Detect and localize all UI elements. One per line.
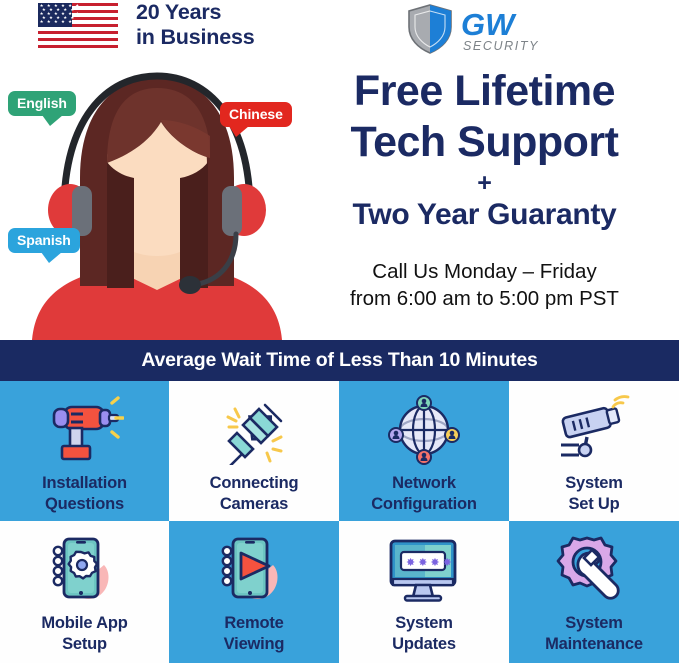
language-badge-spanish: Spanish	[8, 228, 80, 253]
language-badge-spanish-label: Spanish	[17, 232, 71, 248]
gw-security-logo: GW SECURITY	[404, 3, 542, 55]
shield-icon	[409, 5, 451, 53]
topic-tile-label: Network Configuration	[371, 473, 477, 515]
topic-tile-label: System Maintenance	[545, 613, 643, 655]
topic-tile-mobile-app-setup[interactable]: Mobile App Setup	[0, 521, 169, 663]
topic-tile-system-set-up[interactable]: System Set Up	[509, 381, 679, 521]
topic-tile-label: System Set Up	[565, 473, 623, 515]
cctv-camera-icon	[552, 393, 636, 467]
topic-tile-system-updates[interactable]: ✸✸✸✸ System Updates	[339, 521, 509, 663]
gw-logo-mark: GW	[461, 7, 517, 42]
topic-tile-system-maintenance[interactable]: System Maintenance	[509, 521, 679, 663]
phone-gear-icon	[43, 533, 127, 607]
topic-tile-label: Remote Viewing	[224, 613, 285, 655]
topic-tile-remote-viewing[interactable]: Remote Viewing	[169, 521, 339, 663]
years-line-1: 20 Years	[136, 0, 221, 24]
headline-plus: +	[290, 170, 679, 196]
headline-line-3: Two Year Guaranty	[290, 196, 679, 234]
support-topics-grid: Installation Questions	[0, 381, 679, 663]
years-in-business-text: 20 Years in Business	[136, 0, 356, 50]
language-badge-english-label: English	[17, 95, 67, 111]
infographic-page: ★ ★ ★ ★ ★ ★ ★ ★ ★ ★ ★ ★ ★ ★ ★ ★ ★ ★ ★ ★ …	[0, 0, 679, 663]
gw-logo-subtitle: SECURITY	[463, 39, 539, 53]
wait-time-banner: Average Wait Time of Less Than 10 Minute…	[0, 340, 679, 381]
topic-tile-installation-questions[interactable]: Installation Questions	[0, 381, 169, 521]
headline-block: Free Lifetime Tech Support + Two Year Gu…	[290, 66, 679, 234]
globe-network-icon	[382, 393, 466, 467]
us-flag-icon: ★ ★ ★ ★ ★ ★ ★ ★ ★ ★ ★ ★ ★ ★ ★ ★ ★ ★ ★ ★ …	[38, 3, 118, 50]
language-badge-chinese: Chinese	[220, 102, 292, 127]
drill-icon	[43, 393, 127, 467]
business-hours-text: Call Us Monday – Friday from 6:00 am to …	[290, 258, 679, 312]
topic-tile-label: Mobile App Setup	[41, 613, 127, 655]
hours-line-1: Call Us Monday – Friday	[290, 258, 679, 285]
headline-line-2: Tech Support	[290, 117, 679, 168]
wait-time-banner-text: Average Wait Time of Less Than 10 Minute…	[141, 349, 537, 372]
topic-tile-label: Connecting Cameras	[210, 473, 299, 515]
language-badge-english: English	[8, 91, 76, 116]
svg-text:✸✸✸✸: ✸✸✸✸	[406, 556, 455, 569]
topic-tile-connecting-cameras[interactable]: Connecting Cameras	[169, 381, 339, 521]
hours-line-2: from 6:00 am to 5:00 pm PST	[290, 285, 679, 312]
years-line-2: in Business	[136, 25, 356, 50]
hero-section: ★ ★ ★ ★ ★ ★ ★ ★ ★ ★ ★ ★ ★ ★ ★ ★ ★ ★ ★ ★ …	[0, 0, 679, 340]
topic-tile-network-configuration[interactable]: Network Configuration	[339, 381, 509, 521]
phone-play-icon	[212, 533, 296, 607]
language-badge-chinese-label: Chinese	[229, 106, 283, 122]
gear-wrench-icon	[552, 533, 636, 607]
headline-line-1: Free Lifetime	[290, 66, 679, 117]
monitor-password-icon: ✸✸✸✸	[382, 533, 466, 607]
topic-tile-label: System Updates	[392, 613, 456, 655]
plug-connect-icon	[212, 393, 296, 467]
topic-tile-label: Installation Questions	[42, 473, 127, 515]
